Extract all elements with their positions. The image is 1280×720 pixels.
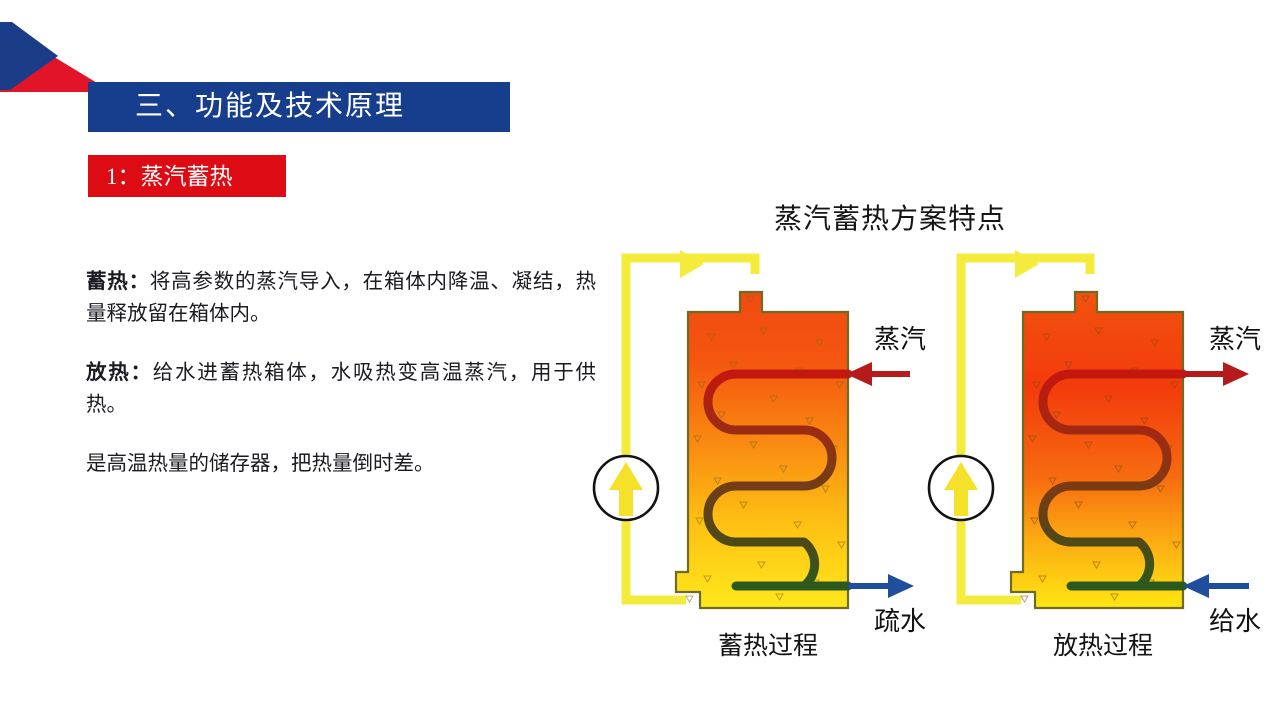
drain-label-left: 疏水: [874, 607, 926, 636]
paragraph-discharging: 放热：给水进蓄热箱体，水吸热变高温蒸汽，用于供热。: [86, 357, 596, 422]
paragraph-discharging-lead: 放热：: [86, 362, 153, 384]
paragraph-summary-text: 是高温热量的储存器，把热量倒时差。: [86, 453, 435, 475]
feedwater-label-right: 给水: [1209, 607, 1261, 636]
subsection-title-text: 1：蒸汽蓄热: [106, 165, 233, 188]
pump-right: [929, 456, 993, 520]
paragraph-summary: 是高温热量的储存器，把热量倒时差。: [86, 448, 596, 480]
paragraph-charging: 蓄热：将高参数的蒸汽导入，在箱体内降温、凝结，热量释放留在箱体内。: [86, 266, 596, 331]
panel-discharging: 蒸汽 给水 放热过程: [929, 250, 1261, 660]
steam-label-right: 蒸汽: [1209, 325, 1261, 354]
caption-discharging: 放热过程: [1053, 632, 1153, 660]
steam-arrow-left: [846, 362, 910, 386]
pump-left: [594, 456, 658, 520]
body-text-block: 蓄热：将高参数的蒸汽导入，在箱体内降温、凝结，热量释放留在箱体内。 放热：给水进…: [86, 266, 596, 480]
section-title-text: 三、功能及技术原理: [135, 93, 405, 121]
subsection-title-banner: 1：蒸汽蓄热: [88, 155, 286, 197]
caption-charging: 蓄热过程: [718, 632, 818, 660]
tank-right: [1011, 292, 1183, 608]
feedwater-arrow-right: [1183, 574, 1249, 598]
steam-accumulator-figure: 蒸汽 疏水 蓄热过程: [590, 250, 1270, 680]
paragraph-charging-text: 将高参数的蒸汽导入，在箱体内降温、凝结，热量释放留在箱体内。: [86, 271, 596, 325]
slide-canvas: 三、功能及技术原理 1：蒸汽蓄热 蓄热：将高参数的蒸汽导入，在箱体内降温、凝结，…: [0, 0, 1280, 720]
diagram-title: 蒸汽蓄热方案特点: [690, 197, 1090, 237]
paragraph-charging-lead: 蓄热：: [86, 271, 150, 293]
steam-label-left: 蒸汽: [874, 325, 926, 354]
steam-arrow-right: [1183, 362, 1249, 386]
tank-left: [676, 292, 848, 608]
drain-arrow-left: [848, 574, 914, 598]
paragraph-discharging-text: 给水进蓄热箱体，水吸热变高温蒸汽，用于供热。: [86, 362, 596, 416]
panel-charging: 蒸汽 疏水 蓄热过程: [594, 250, 926, 660]
section-title-banner: 三、功能及技术原理: [88, 82, 510, 132]
